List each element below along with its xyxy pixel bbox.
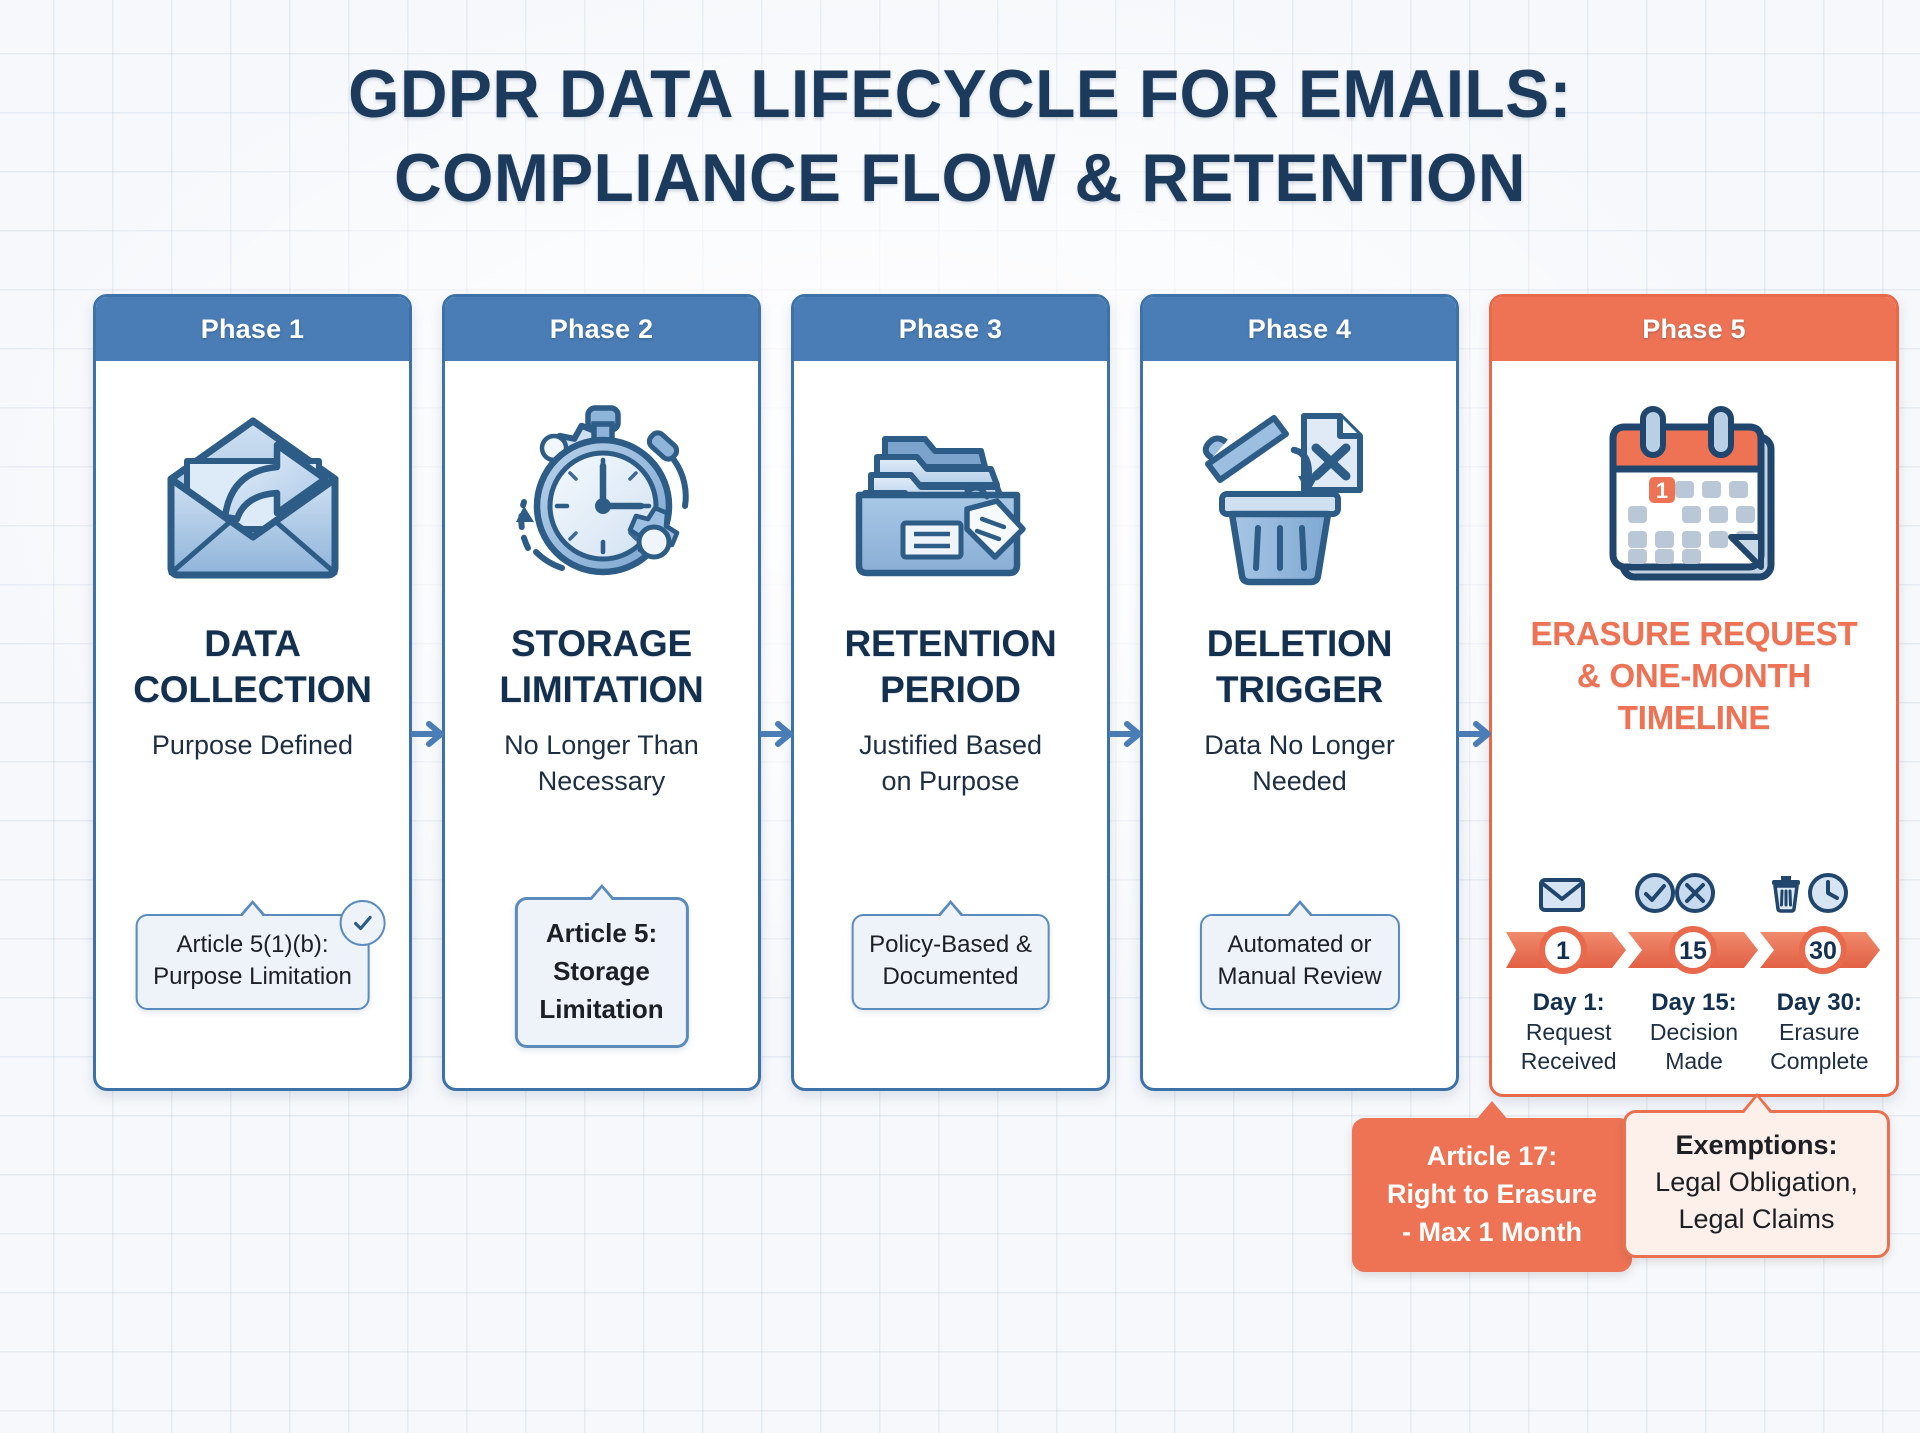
connector-arrow-4-icon — [1458, 714, 1496, 754]
phase-4-body: DELETION TRIGGER Data No Longer Needed A… — [1143, 361, 1456, 1088]
phase-1-title: DATA COLLECTION — [133, 621, 371, 713]
phase-2-subtitle-line-1: No Longer Than — [504, 730, 699, 760]
stopwatch-gears-icon — [502, 395, 702, 595]
callout-notch — [1740, 1093, 1774, 1113]
phase-3-title-line-2: PERIOD — [880, 669, 1021, 710]
phase-3-title-line-1: RETENTION — [845, 623, 1057, 664]
phase-5-title-line-3: TIMELINE — [1618, 699, 1770, 736]
phase-5-title-line-1: ERASURE REQUEST — [1530, 615, 1857, 652]
timeline-step-2-day: Day 15: — [1631, 988, 1756, 1018]
tag-notch — [1285, 900, 1313, 916]
timeline-step-3-desc-2: Complete — [1757, 1047, 1882, 1076]
phase-4-subtitle: Data No Longer Needed — [1204, 727, 1395, 799]
phase-5-body: 1 ERASURE REQUEST & ONE-MONTH TIMELINE — [1492, 361, 1896, 1094]
timeline-step-1-day: Day 1: — [1506, 988, 1631, 1018]
phase-1-tag-line-1: Article 5(1)(b): — [153, 929, 352, 961]
check-circle-icon — [340, 900, 386, 946]
file-box-tag-icon — [851, 395, 1051, 595]
phase-2-subtitle: No Longer Than Necessary — [504, 727, 699, 799]
timeline-chevron-bar: 1 15 30 — [1506, 920, 1882, 980]
phase-3-header: Phase 3 — [794, 297, 1107, 361]
phase-2-tag[interactable]: Article 5: Storage Limitation — [514, 897, 688, 1048]
phase-4-subtitle-line-1: Data No Longer — [1204, 730, 1395, 760]
tag-notch — [588, 884, 616, 900]
phase-5-title-line-2: & ONE-MONTH — [1577, 657, 1811, 694]
infographic-stage: GDPR DATA LIFECYCLE FOR EMAILS: COMPLIAN… — [0, 0, 1920, 1433]
phase-2-title: STORAGE LIMITATION — [499, 621, 703, 713]
exemptions-callout[interactable]: Exemptions: Legal Obligation, Legal Clai… — [1623, 1110, 1890, 1258]
phase-card-4[interactable]: Phase 4 — [1140, 294, 1459, 1091]
phase-3-subtitle-line-2: on Purpose — [881, 766, 1019, 796]
phase-cards-row: Phase 1 — [93, 294, 1853, 1094]
phase-card-2[interactable]: Phase 2 — [442, 294, 761, 1091]
check-cross-icon — [1634, 872, 1718, 914]
calendar-icon: 1 — [1595, 391, 1793, 599]
timeline-icons-row — [1506, 866, 1882, 914]
phase-2-tag-line-1: Article 5: — [539, 914, 663, 952]
article-17-callout-line-1: Article 17: — [1367, 1137, 1617, 1175]
phase-1-title-line-1: DATA — [204, 623, 300, 664]
exemptions-callout-line-3: Legal Claims — [1638, 1201, 1875, 1238]
phase-4-header: Phase 4 — [1143, 297, 1456, 361]
page-title: GDPR DATA LIFECYCLE FOR EMAILS: COMPLIAN… — [0, 52, 1920, 220]
phase-4-tag-line-2: Manual Review — [1217, 961, 1381, 993]
page-title-line-2: COMPLIANCE FLOW & RETENTION — [29, 136, 1891, 220]
phase-1-tag-line-2: Purpose Limitation — [153, 961, 352, 993]
timeline-step-3: Day 30: Erasure Complete — [1757, 988, 1882, 1076]
phase-3-subtitle: Justified Based on Purpose — [859, 727, 1042, 799]
envelope-forward-icon — [153, 395, 353, 595]
phase-card-3[interactable]: Phase 3 — [791, 294, 1110, 1091]
timeline-step-1: Day 1: Request Received — [1506, 988, 1631, 1076]
tag-notch — [937, 900, 965, 916]
phase-card-5[interactable]: Phase 5 — [1489, 294, 1899, 1097]
phase-2-title-line-1: STORAGE — [511, 623, 692, 664]
phase-2-body: STORAGE LIMITATION No Longer Than Necess… — [445, 361, 758, 1088]
phase-3-tag-line-2: Documented — [869, 961, 1032, 993]
calendar-highlight-day: 1 — [1656, 478, 1668, 503]
timeline-marker-1: 1 — [1556, 937, 1570, 965]
callout-notch — [1475, 1101, 1509, 1121]
timeline-marker-2: 15 — [1679, 937, 1707, 965]
timeline-step-3-day: Day 30: — [1757, 988, 1882, 1018]
phase-3-subtitle-line-1: Justified Based — [859, 730, 1042, 760]
connector-arrow-2-icon — [760, 714, 798, 754]
exemptions-callout-line-1: Exemptions: — [1638, 1127, 1875, 1164]
page-title-line-1: GDPR DATA LIFECYCLE FOR EMAILS: — [29, 52, 1891, 136]
phase-3-tag-line-1: Policy-Based & — [869, 929, 1032, 961]
phase-3-title: RETENTION PERIOD — [845, 621, 1057, 713]
phase-5-header: Phase 5 — [1492, 297, 1896, 361]
timeline-step-1-desc-2: Received — [1506, 1047, 1631, 1076]
phase-3-body: RETENTION PERIOD Justified Based on Purp… — [794, 361, 1107, 1088]
article-17-callout[interactable]: Article 17: Right to Erasure - Max 1 Mon… — [1352, 1118, 1632, 1272]
phase-2-subtitle-line-2: Necessary — [538, 766, 666, 796]
trash-clock-icon — [1766, 872, 1850, 914]
connector-arrow-1-icon — [411, 714, 449, 754]
phase-4-title-line-1: DELETION — [1207, 623, 1392, 664]
phase-2-title-line-2: LIMITATION — [499, 669, 703, 710]
phase-3-tag[interactable]: Policy-Based & Documented — [851, 914, 1050, 1010]
phase-1-body: DATA COLLECTION Purpose Defined Article … — [96, 361, 409, 1088]
article-17-callout-line-2: Right to Erasure — [1367, 1175, 1617, 1213]
phase-5-title: ERASURE REQUEST & ONE-MONTH TIMELINE — [1530, 613, 1857, 739]
timeline-marker-3: 30 — [1809, 937, 1837, 965]
phase-4-tag[interactable]: Automated or Manual Review — [1199, 914, 1399, 1010]
tag-notch — [239, 900, 267, 916]
phase-4-tag-line-1: Automated or — [1217, 929, 1381, 961]
phase-card-1[interactable]: Phase 1 — [93, 294, 412, 1091]
phase-2-tag-line-2: Storage — [539, 952, 663, 990]
trash-delete-document-icon — [1200, 395, 1400, 595]
phase-4-title: DELETION TRIGGER — [1207, 621, 1392, 713]
phase-2-header: Phase 2 — [445, 297, 758, 361]
timeline-step-2: Day 15: Decision Made — [1631, 988, 1756, 1076]
phase-1-header: Phase 1 — [96, 297, 409, 361]
phase-4-title-line-2: TRIGGER — [1216, 669, 1383, 710]
timeline-step-1-desc-1: Request — [1506, 1018, 1631, 1047]
timeline-labels-row: Day 1: Request Received Day 15: Decision… — [1506, 988, 1882, 1076]
phase-1-title-line-2: COLLECTION — [133, 669, 371, 710]
timeline-step-2-desc-1: Decision — [1631, 1018, 1756, 1047]
phase-1-tag[interactable]: Article 5(1)(b): Purpose Limitation — [135, 914, 370, 1010]
connector-arrow-3-icon — [1109, 714, 1147, 754]
envelope-icon — [1538, 876, 1586, 914]
exemptions-callout-line-2: Legal Obligation, — [1638, 1164, 1875, 1201]
timeline-step-2-desc-2: Made — [1631, 1047, 1756, 1076]
erasure-timeline: 1 15 30 Day 1: Request Received Day 15: — [1492, 866, 1896, 1076]
article-17-callout-line-3: - Max 1 Month — [1367, 1213, 1617, 1251]
phase-2-tag-line-3: Limitation — [539, 990, 663, 1028]
phase-1-subtitle: Purpose Defined — [152, 727, 353, 763]
timeline-step-3-desc-1: Erasure — [1757, 1018, 1882, 1047]
phase-4-subtitle-line-2: Needed — [1252, 766, 1347, 796]
